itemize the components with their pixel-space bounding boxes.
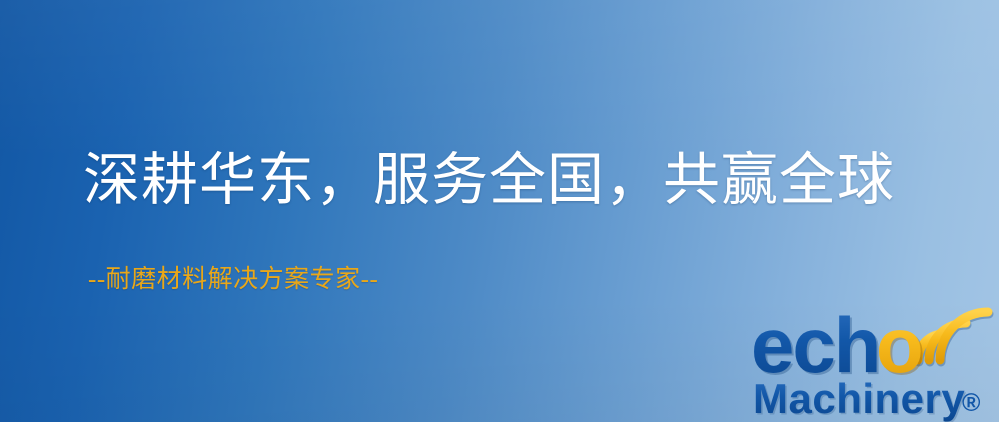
signal-arcs-icon <box>918 312 989 362</box>
logo-wordmark-face: Machinery <box>753 375 965 422</box>
echo-machinery-logo[interactable]: ech ech o o Machinery Machinery ® <box>748 296 999 422</box>
banner-headline: 深耕华东，服务全国，共赢全球 <box>83 152 895 209</box>
registered-mark-icon: ® <box>962 389 981 417</box>
banner-subtitle: --耐磨材料解决方案专家-- <box>88 267 378 292</box>
hero-banner: 深耕华东，服务全国，共赢全球 --耐磨材料解决方案专家-- <box>0 0 999 422</box>
